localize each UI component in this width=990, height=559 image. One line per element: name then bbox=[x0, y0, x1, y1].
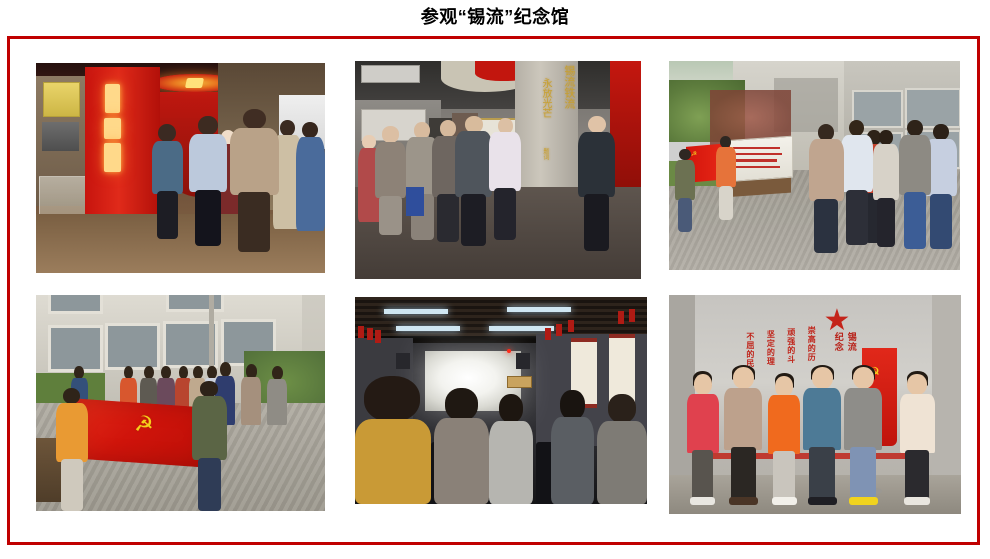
seated-viewer bbox=[355, 376, 431, 504]
ceiling-light bbox=[384, 309, 448, 314]
indicator-led bbox=[507, 349, 511, 353]
participant-figure bbox=[873, 130, 899, 247]
ceiling-air-vent bbox=[361, 65, 420, 82]
gallery-photo-2[interactable]: 锡流铁流 永放光芒 题词 bbox=[355, 61, 641, 279]
oath-participant bbox=[267, 366, 287, 424]
historic-photo-inset bbox=[42, 122, 80, 151]
memorial-hall-logo: 锡流纪念 bbox=[827, 332, 859, 358]
visitor-figure bbox=[152, 124, 184, 240]
photo-4-scene: ☭ bbox=[36, 295, 325, 511]
wall-slogan-column: 坚定的理 bbox=[765, 330, 776, 366]
ceiling-red-trim bbox=[629, 309, 635, 321]
group-photo-person bbox=[768, 376, 800, 505]
photo-3-scene: ☭ bbox=[669, 61, 960, 270]
calligraphy-line-1: 锡流铁流 bbox=[561, 65, 577, 109]
seated-viewer bbox=[434, 388, 489, 504]
guide-figure bbox=[578, 116, 615, 251]
glowing-sign-1 bbox=[105, 84, 119, 113]
glowing-sign-3 bbox=[104, 143, 121, 172]
gallery-photo-5[interactable] bbox=[355, 297, 647, 504]
group-photo-person bbox=[724, 367, 762, 505]
group-photo-person bbox=[687, 374, 719, 505]
visitor-figure bbox=[296, 122, 325, 231]
group-photo-person bbox=[900, 374, 935, 505]
group-photo-person bbox=[803, 367, 841, 505]
visitor-figure bbox=[489, 118, 520, 240]
hammer-sickle-icon: ☭ bbox=[134, 413, 169, 444]
photo-5-scene bbox=[355, 297, 647, 504]
flag-holder-figure bbox=[192, 381, 227, 511]
oath-text-line bbox=[733, 166, 780, 169]
seated-viewer bbox=[551, 390, 595, 504]
ceiling-red-trim bbox=[545, 328, 551, 340]
ceiling-light bbox=[507, 307, 571, 312]
right-wall-return bbox=[932, 295, 961, 483]
visitor-figure bbox=[189, 116, 227, 246]
visitor-figure bbox=[455, 116, 492, 247]
photo-2-scene: 锡流铁流 永放光芒 题词 bbox=[355, 61, 641, 279]
photo-6-scene: ★ 不屈的民 坚定的理 顽强的斗 崇高的历 锡流纪念 ☭ bbox=[669, 295, 961, 514]
speaker bbox=[396, 353, 411, 370]
flag-holder-figure bbox=[675, 149, 695, 233]
oath-participant bbox=[241, 364, 261, 424]
ceiling-red-trim bbox=[568, 320, 574, 332]
photo-1-scene bbox=[36, 63, 325, 273]
participant-figure bbox=[809, 124, 844, 254]
visitor-figure bbox=[230, 109, 279, 252]
photo-gallery-frame: 锡流铁流 永放光芒 题词 bbox=[7, 36, 980, 545]
page-title: 参观“锡流”纪念馆 bbox=[0, 4, 990, 30]
ceiling-red-trim bbox=[618, 311, 624, 323]
ceiling-red-trim bbox=[556, 324, 562, 336]
wall-slogan-column: 崇高的历 bbox=[806, 326, 817, 362]
blue-tote-bag bbox=[406, 187, 423, 215]
window bbox=[48, 325, 103, 372]
participant-figure bbox=[899, 120, 931, 250]
oath-text-line bbox=[733, 153, 782, 156]
wall-slogan-column: 不屈的民 bbox=[745, 332, 756, 368]
yellow-info-board bbox=[43, 82, 80, 118]
speaker bbox=[516, 353, 531, 370]
wall-plaque bbox=[507, 376, 532, 388]
calligraphy-line-2: 永放光芒 bbox=[538, 78, 553, 118]
seated-viewer bbox=[597, 394, 647, 504]
visitor-figure bbox=[375, 126, 406, 235]
flag-holder-figure bbox=[56, 388, 88, 511]
oath-text-line bbox=[733, 147, 780, 150]
window bbox=[105, 323, 160, 370]
ceiling-light bbox=[396, 326, 460, 331]
wall-slogan-column: 顽强的斗 bbox=[786, 328, 797, 364]
gallery-photo-6[interactable]: ★ 不屈的民 坚定的理 顽强的斗 崇高的历 锡流纪念 ☭ bbox=[669, 295, 961, 514]
glowing-sign-2 bbox=[104, 118, 121, 139]
gallery-photo-4[interactable]: ☭ bbox=[36, 295, 325, 511]
calligraphy-signature: 题词 bbox=[541, 148, 550, 160]
flag-holder-figure bbox=[716, 136, 736, 220]
participant-figure bbox=[841, 120, 873, 245]
window bbox=[166, 295, 224, 312]
oath-text-line bbox=[733, 159, 777, 162]
ceiling-red-trim bbox=[367, 328, 373, 340]
ceiling-red-trim bbox=[375, 330, 381, 342]
seated-viewer bbox=[489, 394, 533, 504]
gallery-photo-3[interactable]: ☭ bbox=[669, 61, 960, 270]
group-photo-person bbox=[844, 367, 882, 505]
window bbox=[48, 295, 103, 314]
ceiling-red-trim bbox=[358, 326, 364, 338]
gallery-photo-1[interactable] bbox=[36, 63, 325, 273]
